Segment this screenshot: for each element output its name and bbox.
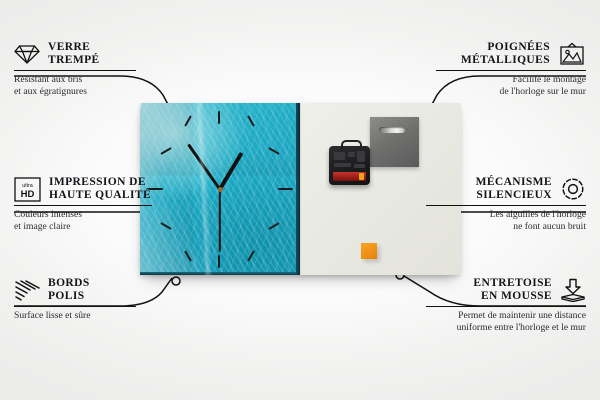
- connector-dot-bords-polis: [172, 277, 180, 285]
- divider: [14, 70, 136, 71]
- clock-bottom-edge: [140, 272, 300, 275]
- callout-title: VERRE: [48, 41, 100, 54]
- callout-entretoise-en-mousse: ENTRETOISE EN MOUSSE Permet de maintenir…: [426, 277, 586, 333]
- clock-center-cap: [218, 187, 223, 192]
- callout-title-2: HAUTE QUALITÉ: [49, 189, 151, 202]
- callout-impression-haute-qualite: ultra HD IMPRESSION DE HAUTE QUALITÉ Cou…: [14, 176, 174, 232]
- callout-title-2: POLIS: [48, 290, 90, 303]
- divider: [14, 306, 136, 307]
- callout-desc: Surface lisse et sûre: [14, 310, 164, 321]
- ultra-hd-icon: ultra HD: [14, 177, 41, 202]
- clock-mechanism: [329, 146, 370, 185]
- foam-spacer: [361, 243, 377, 259]
- callout-desc: Les aiguilles de l'horloge: [426, 209, 586, 220]
- diagonal-lines-icon: [14, 279, 40, 301]
- callout-poignees-metalliques: POIGNÉES MÉTALLIQUES Facilite le montage…: [436, 41, 586, 97]
- callout-title: ENTRETOISE: [426, 277, 552, 290]
- callout-title: BORDS: [48, 277, 90, 290]
- callout-title-2: MÉTALLIQUES: [436, 54, 550, 67]
- callout-title: MÉCANISME: [426, 176, 552, 189]
- divider: [14, 205, 152, 206]
- callout-bords-polis: BORDS POLIS Surface lisse et sûre: [14, 277, 164, 322]
- callout-desc-2: et aux égratignures: [14, 86, 164, 97]
- callout-title: POIGNÉES: [436, 41, 550, 54]
- callout-desc: Couleurs intenses: [14, 209, 174, 220]
- callout-desc-2: ne font aucun bruit: [426, 221, 586, 232]
- callout-desc: Permet de maintenir une distance: [426, 310, 586, 321]
- svg-text:HD: HD: [21, 189, 35, 200]
- divider: [426, 306, 586, 307]
- infographic-canvas: VERRE TREMPÉ Résistant aux bris et aux é…: [0, 0, 600, 400]
- product-image: [140, 103, 460, 275]
- callout-desc-2: de l'horloge sur le mur: [436, 86, 586, 97]
- callout-desc-2: uniforme entre l'horloge et le mur: [426, 322, 586, 333]
- mechanism-hook: [341, 140, 362, 151]
- gear-icon: [560, 176, 586, 202]
- callout-title-2: SILENCIEUX: [426, 189, 552, 202]
- metal-hanger-plate: [370, 117, 419, 167]
- clock-second-hand: [219, 189, 221, 251]
- callout-desc: Facilite le montage: [436, 74, 586, 85]
- callout-desc-2: et image claire: [14, 221, 174, 232]
- callout-title: IMPRESSION DE: [49, 176, 151, 189]
- callout-mecanisme-silencieux: MÉCANISME SILENCIEUX Les aiguilles de l'…: [426, 176, 586, 232]
- picture-frame-hook-icon: [558, 42, 586, 66]
- hanger-slot: [379, 127, 405, 133]
- callout-title-2: EN MOUSSE: [426, 290, 552, 303]
- divider: [426, 205, 586, 206]
- callout-desc: Résistant aux bris: [14, 74, 164, 85]
- battery-positive-tip: [359, 173, 364, 180]
- arrow-down-pad-icon: [560, 278, 586, 302]
- callout-verre-trempe: VERRE TREMPÉ Résistant aux bris et aux é…: [14, 41, 164, 97]
- divider: [436, 70, 586, 71]
- diamond-icon: [14, 43, 40, 65]
- battery: [333, 172, 366, 181]
- callout-title-2: TREMPÉ: [48, 54, 100, 67]
